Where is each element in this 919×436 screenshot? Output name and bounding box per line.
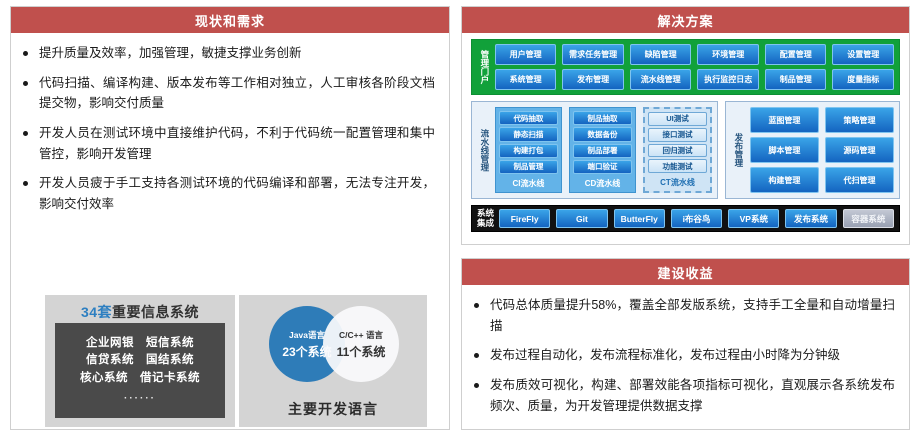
integration-button-butterfly[interactable]: ButterFly <box>614 209 665 228</box>
release-button[interactable]: 代扫管理 <box>825 167 894 193</box>
benefit-bullet-list: 代码总体质量提升58%，覆盖全部发版系统，支持手工全量和自动增量扫描 发布过程自… <box>462 285 909 416</box>
language-venn-card: Java语言 23个系统 C/C++ 语言 11个系统 主要开发语言 <box>239 295 427 427</box>
list-item: 提升质量及效率，加强管理，敏捷支撑业务创新 <box>21 43 435 64</box>
list-item: 代码扫描、编译构建、版本发布等工作相对独立，人工审核各阶段文档提交物，影响交付质… <box>21 73 435 114</box>
pipeline-column-name: CD流水线 <box>573 176 632 189</box>
pipeline-column-cd: 制品抽取 数据备份 制品部署 端口验证 CD流水线 <box>569 107 636 193</box>
release-button[interactable]: 构建管理 <box>750 167 819 193</box>
pipeline-step[interactable]: 制品抽取 <box>573 111 632 125</box>
systems-title-text: 重要信息系统 <box>112 304 199 320</box>
portal-button[interactable]: 流水线管理 <box>630 69 692 90</box>
current-status-bullet-list: 提升质量及效率，加强管理，敏捷支撑业务创新 代码扫描、编译构建、版本发布等工作相… <box>11 33 449 214</box>
integration-button-git[interactable]: Git <box>556 209 607 228</box>
system-integration-label-line2: 集成 <box>477 219 494 229</box>
list-item: 开发人员疲于手工支持各测试环境的代码编译和部署，无法专注开发，影响交付效率 <box>21 173 435 214</box>
portal-button[interactable]: 设置管理 <box>832 44 894 65</box>
integration-button-vp[interactable]: VP系统 <box>728 209 779 228</box>
portal-button[interactable]: 用户管理 <box>495 44 557 65</box>
list-item: 开发人员在测试环境中直接维护代码，不利于代码统一配置管理和集中管控，影响开发管理 <box>21 123 435 164</box>
portal-button[interactable]: 配置管理 <box>765 44 827 65</box>
pipeline-management-label: 流水线管理 <box>477 107 492 193</box>
release-management-section: 发布管理 蓝图管理 策略管理 脚本管理 源码管理 构建管理 代扫管理 <box>725 101 900 199</box>
pipeline-step[interactable]: 构建打包 <box>499 144 558 158</box>
pipeline-column-name: CT流水线 <box>648 175 707 188</box>
venn-java-label: Java语言 <box>289 329 325 341</box>
portal-button[interactable]: 发布管理 <box>562 69 624 90</box>
benefit-panel: 建设收益 代码总体质量提升58%，覆盖全部发版系统，支持手工全量和自动增量扫描 … <box>461 258 910 430</box>
current-status-panel-title: 现状和需求 <box>11 7 449 33</box>
venn-diagram: Java语言 23个系统 C/C++ 语言 11个系统 <box>239 303 427 385</box>
venn-circle-cpp: C/C++ 语言 11个系统 <box>323 306 399 382</box>
venn-cpp-label: C/C++ 语言 <box>339 329 383 341</box>
management-portal-label: 管理门户 <box>477 43 492 91</box>
solution-architecture-diagram: 管理门户 用户管理 需求任务管理 缺陷管理 环境管理 配置管理 设置管理 系统管… <box>471 39 900 238</box>
systems-name-box: 企业网银 短信系统 信贷系统 国结系统 核心系统 借记卡系统 ······ <box>55 323 225 418</box>
solution-panel: 解决方案 管理门户 用户管理 需求任务管理 缺陷管理 环境管理 配置管理 设置管… <box>461 6 910 245</box>
list-item: 代码总体质量提升58%，覆盖全部发版系统，支持手工全量和自动增量扫描 <box>472 295 895 336</box>
release-button-grid: 蓝图管理 策略管理 脚本管理 源码管理 构建管理 代扫管理 <box>750 107 894 193</box>
solution-panel-body: 管理门户 用户管理 需求任务管理 缺陷管理 环境管理 配置管理 设置管理 系统管… <box>462 33 909 244</box>
pipeline-step[interactable]: 数据备份 <box>573 127 632 141</box>
pipeline-column-name: CI流水线 <box>499 176 558 189</box>
release-button[interactable]: 策略管理 <box>825 107 894 133</box>
systems-graphic: 34套重要信息系统 企业网银 短信系统 信贷系统 国结系统 核心系统 借记卡系统… <box>45 295 427 427</box>
portal-button[interactable]: 制品管理 <box>765 69 827 90</box>
list-item: 信贷系统 国结系统 <box>86 352 194 370</box>
pipeline-step[interactable]: 代码抽取 <box>499 111 558 125</box>
list-item: 发布质效可视化，构建、部署效能各项指标可视化，直观展示各系统发布频次、质量，为开… <box>472 375 895 416</box>
management-portal-button-grid: 用户管理 需求任务管理 缺陷管理 环境管理 配置管理 设置管理 系统管理 发布管… <box>495 44 894 90</box>
release-button[interactable]: 源码管理 <box>825 137 894 163</box>
portal-button[interactable]: 缺陷管理 <box>630 44 692 65</box>
pipeline-and-release-row: 流水线管理 代码抽取 静态扫描 构建打包 制品管理 CI流水线 制品抽取 <box>471 101 900 199</box>
benefit-panel-body: 代码总体质量提升58%，覆盖全部发版系统，支持手工全量和自动增量扫描 发布过程自… <box>462 285 909 429</box>
management-portal-section: 管理门户 用户管理 需求任务管理 缺陷管理 环境管理 配置管理 设置管理 系统管… <box>471 39 900 95</box>
current-status-panel-body: 提升质量及效率，加强管理，敏捷支撑业务创新 代码扫描、编译构建、版本发布等工作相… <box>11 33 449 429</box>
pipeline-columns: 代码抽取 静态扫描 构建打包 制品管理 CI流水线 制品抽取 数据备份 制品部署 <box>495 107 712 193</box>
list-item: 发布过程自动化，发布流程标准化，发布过程由小时降为分钟级 <box>472 345 895 366</box>
release-management-label: 发布管理 <box>731 107 746 193</box>
list-item: 企业网银 短信系统 <box>86 335 194 353</box>
integration-button-release[interactable]: 发布系统 <box>785 209 836 228</box>
benefit-panel-title: 建设收益 <box>462 259 909 285</box>
pipeline-step[interactable]: 接口测试 <box>648 128 707 142</box>
pipeline-step[interactable]: 制品管理 <box>499 160 558 174</box>
system-integration-items: FireFly Git ButterFly i布谷鸟 VP系统 发布系统 容器系… <box>499 209 894 228</box>
systems-card-title: 34套重要信息系统 <box>45 295 235 322</box>
release-button[interactable]: 蓝图管理 <box>750 107 819 133</box>
pipeline-management-section: 流水线管理 代码抽取 静态扫描 构建打包 制品管理 CI流水线 制品抽取 <box>471 101 718 199</box>
pipeline-step[interactable]: UI测试 <box>648 112 707 126</box>
systems-count: 34套 <box>81 304 112 320</box>
slide-root: 现状和需求 提升质量及效率，加强管理，敏捷支撑业务创新 代码扫描、编译构建、版本… <box>0 0 919 436</box>
integration-button-bugu[interactable]: i布谷鸟 <box>671 209 722 228</box>
pipeline-step[interactable]: 功能测试 <box>648 159 707 173</box>
portal-button[interactable]: 执行监控日志 <box>697 69 759 90</box>
pipeline-column-ci: 代码抽取 静态扫描 构建打包 制品管理 CI流水线 <box>495 107 562 193</box>
systems-list-card: 34套重要信息系统 企业网银 短信系统 信贷系统 国结系统 核心系统 借记卡系统… <box>45 295 235 427</box>
list-item: 核心系统 借记卡系统 <box>80 370 200 388</box>
integration-button-container[interactable]: 容器系统 <box>843 209 894 228</box>
system-integration-section: 系统 集成 FireFly Git ButterFly i布谷鸟 VP系统 发布… <box>471 205 900 232</box>
pipeline-step[interactable]: 制品部署 <box>573 144 632 158</box>
portal-button[interactable]: 系统管理 <box>495 69 557 90</box>
portal-button[interactable]: 需求任务管理 <box>562 44 624 65</box>
system-integration-label: 系统 集成 <box>477 209 499 229</box>
venn-caption: 主要开发语言 <box>239 399 427 419</box>
integration-button-firefly[interactable]: FireFly <box>499 209 550 228</box>
venn-cpp-count: 11个系统 <box>337 343 386 360</box>
portal-button[interactable]: 环境管理 <box>697 44 759 65</box>
pipeline-step[interactable]: 端口验证 <box>573 160 632 174</box>
pipeline-column-ct: UI测试 接口测试 回归测试 功能测试 CT流水线 <box>643 107 712 193</box>
current-status-panel: 现状和需求 提升质量及效率，加强管理，敏捷支撑业务创新 代码扫描、编译构建、版本… <box>10 6 450 430</box>
pipeline-step[interactable]: 静态扫描 <box>499 127 558 141</box>
pipeline-step[interactable]: 回归测试 <box>648 144 707 158</box>
portal-button[interactable]: 度量指标 <box>832 69 894 90</box>
systems-more-ellipsis: ······ <box>124 391 156 407</box>
solution-panel-title: 解决方案 <box>462 7 909 33</box>
release-button[interactable]: 脚本管理 <box>750 137 819 163</box>
